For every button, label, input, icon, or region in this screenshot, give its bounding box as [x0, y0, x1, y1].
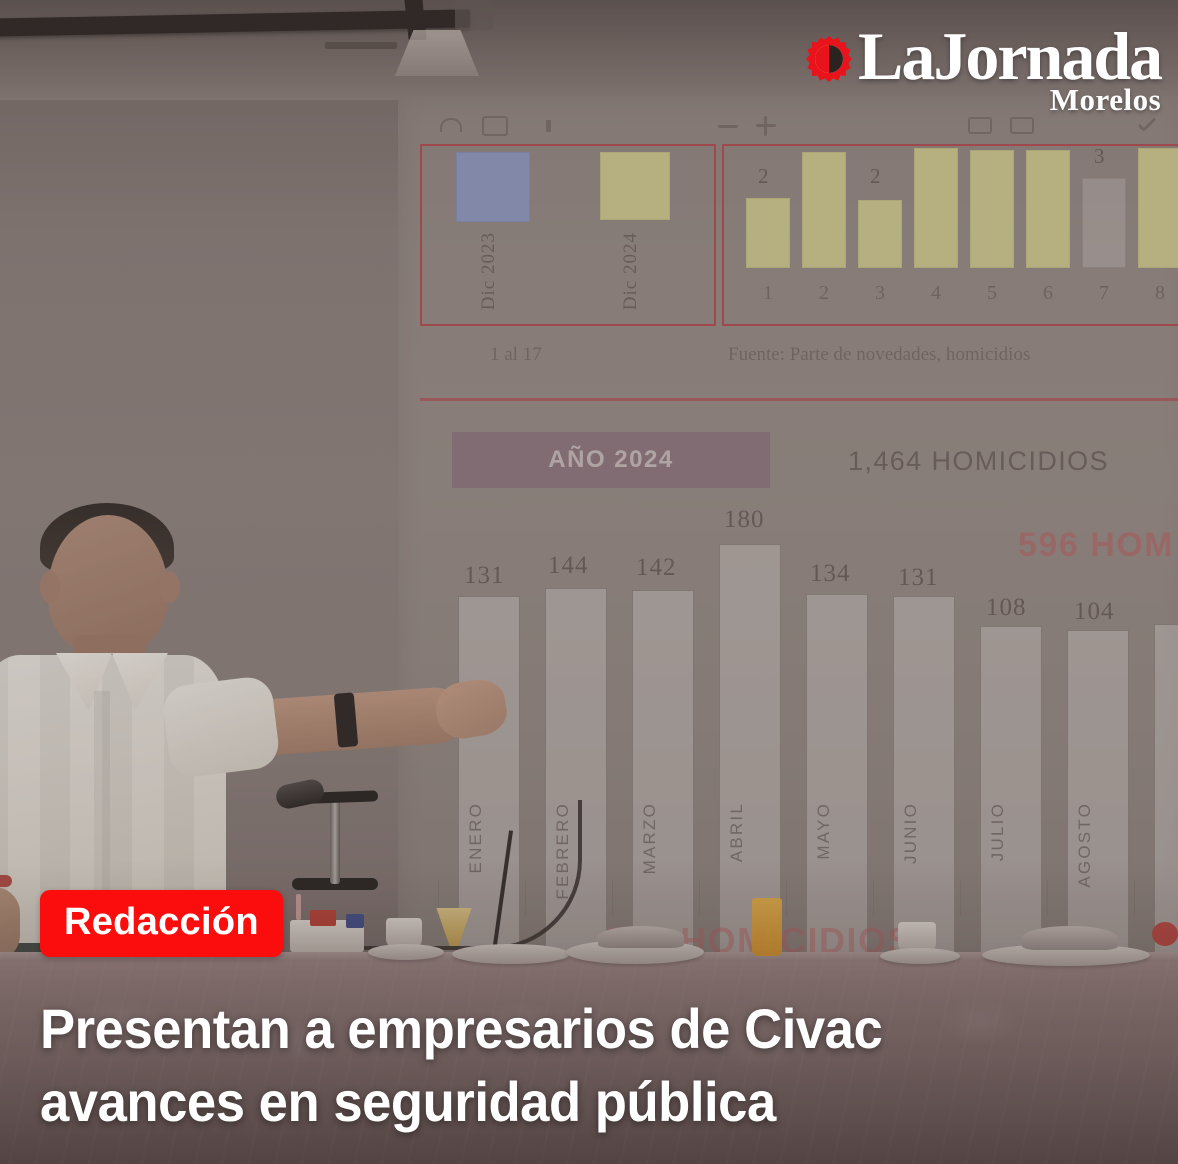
- saucer-right: [880, 948, 960, 964]
- axis-label-marzo: MARZO: [640, 802, 660, 874]
- bar-value-day-3: 2: [870, 164, 882, 189]
- axis-day-1: 1: [763, 282, 773, 305]
- axis-label-julio: JULIO: [988, 802, 1008, 861]
- bar-value-abril: 180: [724, 506, 765, 534]
- rect-icon: [968, 117, 992, 134]
- sun-burst-half-fill: [815, 45, 843, 73]
- microphone-pole: [330, 800, 340, 884]
- saucer-left: [368, 944, 444, 960]
- bar-value-mayo: 134: [810, 560, 851, 588]
- byline-badge[interactable]: Redacción: [40, 890, 283, 957]
- chart-caption-right: Fuente: Parte de novedades, homicidios: [728, 344, 1030, 366]
- bar-junio: [893, 596, 955, 962]
- bar-day-5: [970, 150, 1014, 268]
- bar-value-julio: 108: [986, 594, 1027, 622]
- logo-wordmark: LaJornada Morelos: [858, 22, 1161, 115]
- bracelet: [0, 875, 12, 887]
- condiment-straw: [296, 894, 301, 920]
- bar-agosto: [1067, 630, 1129, 962]
- bar-value-marzo: 142: [636, 554, 677, 582]
- red-note-right: 596 HOM: [1018, 526, 1174, 565]
- bar-day-3: [858, 200, 902, 268]
- bar-marzo: [632, 590, 694, 962]
- slide-divider: [420, 398, 1178, 401]
- garnish-right: [1152, 922, 1178, 946]
- ceiling-vent: [325, 42, 397, 49]
- bar-value-agosto: 104: [1074, 598, 1115, 626]
- axis-tick: [699, 880, 700, 916]
- plate-center-left: [452, 944, 570, 964]
- bar-day-2: [802, 152, 846, 268]
- bar-label-dic-2023: Dic 2023: [478, 232, 500, 310]
- shirt-sleeve: [161, 675, 281, 780]
- juice-glass: [752, 898, 782, 956]
- axis-day-4: 4: [931, 282, 941, 305]
- axis-tick: [960, 880, 961, 916]
- axis-label-mayo: MAYO: [814, 802, 834, 860]
- minus-icon: [718, 125, 738, 128]
- bar-day-4: [914, 148, 958, 268]
- plus-icon-bar: [756, 124, 776, 127]
- bar-mayo: [806, 594, 868, 962]
- bar-value-enero: 131: [464, 562, 505, 590]
- axis-day-3: 3: [875, 282, 885, 305]
- bar-day-7: [1082, 178, 1126, 268]
- dish-cover-right: [1022, 926, 1118, 950]
- ear-right: [160, 571, 180, 603]
- axis-tick: [786, 880, 787, 916]
- axis-tick: [612, 880, 613, 916]
- bar-dic-2024: [600, 152, 670, 220]
- sun-burst-icon: [806, 36, 852, 82]
- news-photo: Dic 2023 Dic 2024 1 al 17 2 2 3 1 2 3 4 …: [0, 0, 1178, 1164]
- total-homicides-label: 1,464 HOMICIDIOS: [848, 446, 1109, 477]
- bar-septiembre: [1154, 624, 1178, 962]
- axis-label-agosto: AGOSTO: [1075, 802, 1095, 888]
- ceiling-lamp-secondary: [455, 0, 493, 30]
- ear-left: [40, 571, 60, 603]
- logo-main-text: LaJornada: [858, 22, 1161, 90]
- chart-caption-left: 1 al 17: [490, 344, 542, 366]
- dot-icon: [546, 120, 551, 132]
- bar-value-day-7: 3: [1094, 144, 1106, 169]
- dish-cover-center: [598, 926, 684, 948]
- slide-toolbar: [428, 114, 1168, 142]
- axis-day-8: 8: [1155, 282, 1165, 305]
- condiment-red: [310, 910, 336, 926]
- rect-icon-2: [1010, 117, 1034, 134]
- axis-day-2: 2: [819, 282, 829, 305]
- year-banner-label: AÑO 2024: [548, 446, 673, 474]
- bar-dic-2023: [456, 152, 530, 222]
- axis-day-6: 6: [1043, 282, 1053, 305]
- bar-label-dic-2024: Dic 2024: [620, 232, 642, 310]
- article-headline[interactable]: Presentan a empresarios de Civac avances…: [40, 993, 1093, 1139]
- square-icon: [482, 116, 508, 136]
- undo-icon: [440, 118, 462, 132]
- bar-day-1: [746, 198, 790, 268]
- axis-day-5: 5: [987, 282, 997, 305]
- bar-value-day-1: 2: [758, 164, 770, 189]
- axis-label-abril: ABRIL: [727, 802, 747, 862]
- year-banner: AÑO 2024: [452, 432, 770, 488]
- bar-day-6: [1026, 150, 1070, 268]
- site-logo[interactable]: LaJornada Morelos: [806, 22, 1158, 104]
- bar-julio: [980, 626, 1042, 962]
- bar-day-8: [1138, 148, 1178, 268]
- condiment-blue: [346, 914, 364, 928]
- bar-value-febrero: 144: [548, 552, 589, 580]
- axis-label-junio: JUNIO: [901, 802, 921, 864]
- axis-tick: [873, 880, 874, 916]
- axis-tick: [1134, 880, 1135, 916]
- axis-tick: [1047, 880, 1048, 916]
- bar-value-junio: 131: [898, 564, 939, 592]
- axis-day-7: 7: [1099, 282, 1109, 305]
